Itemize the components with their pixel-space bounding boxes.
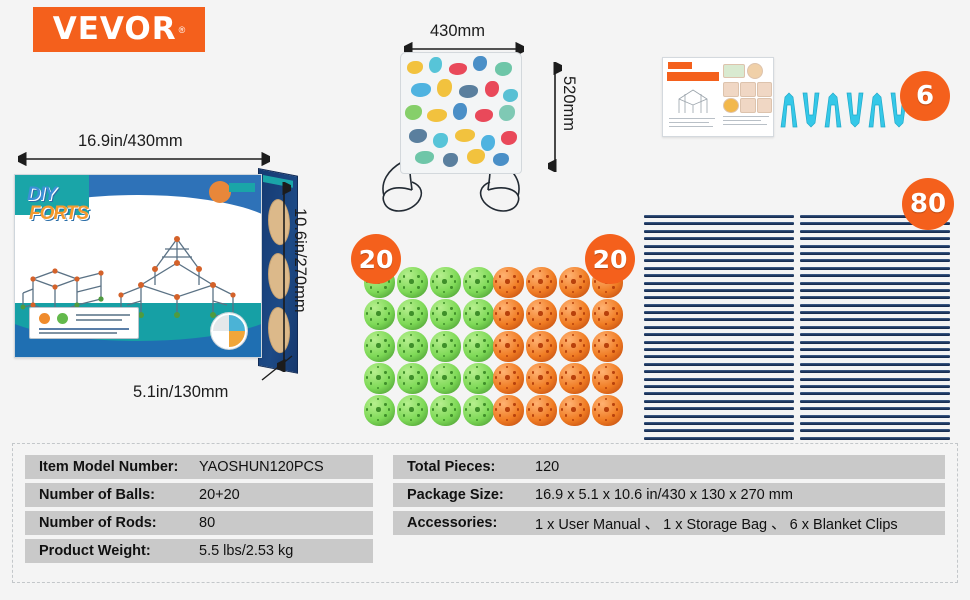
ball-hole [506, 387, 508, 389]
spec-key: Accessories: [393, 515, 535, 531]
ball-hole [370, 318, 372, 320]
ball-hole [403, 414, 405, 416]
box-height-arrow [277, 182, 291, 372]
ball-hole [538, 279, 542, 283]
ball-hole [366, 344, 368, 346]
ball-hole [475, 407, 479, 411]
ball-hole [384, 307, 386, 309]
rod [644, 392, 794, 395]
ball-hole [539, 302, 541, 304]
spec-key: Product Weight: [25, 543, 199, 559]
ball-hole [436, 371, 438, 373]
ball-hole [539, 387, 541, 389]
ball-hole [598, 371, 600, 373]
ball-hole [476, 291, 478, 293]
ball [493, 299, 524, 330]
ball-hole [377, 355, 379, 357]
ball-hole [598, 286, 600, 288]
ball-hole [598, 350, 600, 352]
ball-hole [436, 414, 438, 416]
ball-hole [370, 307, 372, 309]
ball-hole [410, 355, 412, 357]
ball-hole [583, 376, 585, 378]
ball-hole [538, 311, 542, 315]
ball-hole [572, 398, 574, 400]
ball-hole [513, 350, 515, 352]
box-label-line-4 [39, 332, 117, 334]
ball [559, 331, 590, 362]
ball-hole [465, 344, 467, 346]
spec-value: 80 [199, 515, 215, 531]
ball-hole [572, 334, 574, 336]
ball-hole [409, 407, 413, 411]
ball-hole [465, 408, 467, 410]
ball-hole [546, 339, 548, 341]
rod [800, 311, 950, 314]
ball-hole [532, 414, 534, 416]
rod [644, 355, 794, 358]
spec-row: Number of Balls:20+20 [25, 483, 373, 507]
ball-hole [450, 318, 452, 320]
ball-hole [443, 419, 445, 421]
rod [800, 415, 950, 418]
ball-hole [579, 275, 581, 277]
bag-print-blob [433, 133, 448, 148]
ball-hole [450, 286, 452, 288]
bag-print-blob [493, 153, 509, 166]
box-info-label [29, 307, 139, 339]
bag-print-blob [409, 129, 427, 143]
ball-hole [421, 408, 423, 410]
ball-hole [528, 280, 530, 282]
rod [644, 311, 794, 314]
rod [644, 407, 794, 410]
ball-hole [403, 339, 405, 341]
ball-hole [388, 408, 390, 410]
rod [800, 437, 950, 440]
ball-hole [377, 387, 379, 389]
ball-hole [370, 350, 372, 352]
rod [800, 392, 950, 395]
ball-hole [417, 286, 419, 288]
rod [644, 215, 794, 218]
ball-hole [594, 376, 596, 378]
ball-hole [532, 350, 534, 352]
ball-hole [421, 376, 423, 378]
ball [430, 395, 461, 426]
ball-hole [469, 339, 471, 341]
ball-hole [417, 307, 419, 309]
ball-hole [583, 280, 585, 282]
bag-print-blob [429, 57, 442, 73]
vevor-logo: VEVOR® [33, 7, 205, 52]
ball-hole [443, 334, 445, 336]
ball-hole [465, 280, 467, 282]
ball-hole [546, 371, 548, 373]
spec-value: 16.9 x 5.1 x 10.6 in/430 x 130 x 270 mm [535, 487, 793, 503]
ball [364, 395, 395, 426]
ball-hole [532, 275, 534, 277]
ball-hole [483, 275, 485, 277]
ball-hole [450, 307, 452, 309]
ball-hole [579, 307, 581, 309]
ball-hole [370, 403, 372, 405]
ball-hole [370, 382, 372, 384]
ball-hole [506, 323, 508, 325]
box-label-line-1 [76, 314, 130, 316]
rod [644, 348, 794, 351]
box-logo-line2: FORTS [29, 204, 113, 223]
ball-hole [546, 286, 548, 288]
orange-balls-count-badge: 20 [585, 234, 635, 284]
ball-hole [571, 375, 575, 379]
rod [644, 304, 794, 307]
rod [800, 274, 950, 277]
ball-hole [476, 302, 478, 304]
ball-hole [528, 376, 530, 378]
ball-hole [579, 286, 581, 288]
rod [800, 429, 950, 432]
spec-key: Item Model Number: [25, 459, 199, 475]
ball [397, 299, 428, 330]
ball-hole [572, 355, 574, 357]
ball-hole [598, 403, 600, 405]
ball-hole [469, 307, 471, 309]
rod [800, 289, 950, 292]
ball [526, 267, 557, 298]
ball-hole [432, 408, 434, 410]
ball-hole [532, 382, 534, 384]
ball-hole [403, 275, 405, 277]
rod [644, 318, 794, 321]
ball-hole [616, 312, 618, 314]
specifications-table: Item Model Number:YAOSHUN120PCSNumber of… [12, 443, 958, 583]
ball-hole [499, 350, 501, 352]
ball [493, 395, 524, 426]
ball-hole [421, 280, 423, 282]
ball-hole [550, 312, 552, 314]
ball-hole [436, 307, 438, 309]
ball-hole [495, 344, 497, 346]
box-depth-leader [258, 352, 298, 384]
rod [800, 370, 950, 373]
rod [800, 400, 950, 403]
ball-hole [370, 414, 372, 416]
ball-hole [483, 307, 485, 309]
rod [800, 304, 950, 307]
bag-print-blob [427, 109, 447, 122]
ball-hole [583, 312, 585, 314]
ball-hole [442, 375, 446, 379]
ball-hole [505, 407, 509, 411]
ball [559, 267, 590, 298]
ball-hole [476, 323, 478, 325]
ball-hole [604, 311, 608, 315]
ball-hole [499, 371, 501, 373]
ball-hole [506, 270, 508, 272]
bag-print-blob [495, 62, 512, 76]
ball-hole [495, 376, 497, 378]
ball-hole [476, 334, 478, 336]
bag-print-blob [485, 81, 499, 97]
bag-body [400, 52, 522, 174]
rod [644, 415, 794, 418]
ball-hole [513, 371, 515, 373]
bag-print-blob [499, 105, 515, 121]
rod [644, 333, 794, 336]
ball-hole [410, 366, 412, 368]
green-balls-count-badge: 20 [351, 234, 401, 284]
ball-hole [384, 414, 386, 416]
ball-hole [561, 312, 563, 314]
ball-hole [469, 414, 471, 416]
ball-hole [417, 414, 419, 416]
ball-hole [605, 291, 607, 293]
spec-key: Total Pieces: [393, 459, 535, 475]
ball-hole [384, 350, 386, 352]
manual-title-bar [667, 72, 719, 81]
ball-hole [505, 311, 509, 315]
ball-hole [384, 286, 386, 288]
ball-hole [594, 280, 596, 282]
rod [644, 289, 794, 292]
ball-hole [417, 350, 419, 352]
ball-hole [605, 398, 607, 400]
rod [644, 370, 794, 373]
ball [397, 363, 428, 394]
ball-hole [532, 318, 534, 320]
ball [559, 395, 590, 426]
ball-hole [513, 382, 515, 384]
ball-hole [410, 334, 412, 336]
rod [800, 282, 950, 285]
ball [463, 363, 494, 394]
ball-hole [539, 291, 541, 293]
ball-hole [432, 344, 434, 346]
box-product-logo: DIY FORTS [27, 185, 113, 231]
ball-hole [399, 280, 401, 282]
rod [800, 259, 950, 262]
spec-row: Item Model Number:YAOSHUN120PCS [25, 455, 373, 479]
ball-hole [605, 366, 607, 368]
bag-print-blob [481, 135, 495, 151]
ball-hole [561, 344, 563, 346]
ball-hole [384, 403, 386, 405]
ball-hole [616, 408, 618, 410]
ball-hole [506, 366, 508, 368]
ball-hole [506, 398, 508, 400]
ball-hole [538, 407, 542, 411]
ball-hole [572, 291, 574, 293]
ball-hole [539, 323, 541, 325]
ball-hole [476, 270, 478, 272]
ball-hole [476, 366, 478, 368]
rod [800, 296, 950, 299]
ball-hole [384, 371, 386, 373]
ball-hole [487, 312, 489, 314]
box-label-line-2 [76, 319, 122, 321]
ball-hole [432, 376, 434, 378]
bag-print-blob [437, 79, 452, 97]
ball-hole [605, 387, 607, 389]
ball-hole [604, 375, 608, 379]
ball-hole [417, 318, 419, 320]
ball-hole [421, 344, 423, 346]
ball-hole [487, 408, 489, 410]
rod [800, 245, 950, 248]
rod [644, 296, 794, 299]
ball-hole [443, 323, 445, 325]
ball-hole [450, 382, 452, 384]
ball-hole [388, 344, 390, 346]
ball-hole [469, 403, 471, 405]
ball [430, 299, 461, 330]
ball-hole [506, 355, 508, 357]
ball-hole [594, 408, 596, 410]
ball-hole [443, 270, 445, 272]
bag-print-blob [415, 151, 434, 164]
ball-hole [579, 382, 581, 384]
box-width-label: 16.9in/430mm [78, 132, 183, 151]
rod [644, 422, 794, 425]
rod [800, 407, 950, 410]
ball-hole [475, 343, 479, 347]
ball-hole [469, 286, 471, 288]
ball-hole [546, 382, 548, 384]
bag-print-blob [459, 85, 478, 98]
ball-hole [487, 280, 489, 282]
green-balls-grid [364, 267, 495, 426]
ball-hole [499, 382, 501, 384]
ball-hole [517, 312, 519, 314]
ball-hole [598, 307, 600, 309]
ball-hole [565, 350, 567, 352]
ball-hole [604, 343, 608, 347]
ball-hole [539, 355, 541, 357]
ball-hole [432, 312, 434, 314]
ball-hole [604, 407, 608, 411]
bag-print-blob [407, 61, 423, 74]
ball-hole [579, 339, 581, 341]
box-depth-label: 5.1in/130mm [133, 383, 228, 402]
box-label-line-3 [39, 328, 129, 330]
ball-hole [561, 376, 563, 378]
ball-hole [594, 312, 596, 314]
ball-hole [442, 279, 446, 283]
rod [644, 259, 794, 262]
ball-hole [532, 403, 534, 405]
ball-hole [598, 414, 600, 416]
ball-hole [565, 414, 567, 416]
ball-hole [539, 334, 541, 336]
box-brand-strip [229, 183, 255, 192]
rod [644, 282, 794, 285]
ball-hole [513, 275, 515, 277]
ball-hole [495, 280, 497, 282]
ball-hole [399, 376, 401, 378]
rod [644, 267, 794, 270]
ball-hole [499, 403, 501, 405]
ball [463, 331, 494, 362]
ball-hole [454, 280, 456, 282]
rod [800, 318, 950, 321]
rod [800, 363, 950, 366]
ball-hole [546, 307, 548, 309]
ball [559, 299, 590, 330]
ball-hole [403, 403, 405, 405]
ball [463, 395, 494, 426]
ball-hole [513, 339, 515, 341]
ball-hole [384, 339, 386, 341]
ball-hole [487, 344, 489, 346]
ball-hole [403, 318, 405, 320]
ball-hole [417, 339, 419, 341]
ball-hole [546, 414, 548, 416]
ball-hole [399, 344, 401, 346]
spec-value: 5.5 lbs/2.53 kg [199, 543, 293, 559]
infographic-canvas: VEVOR® 16.9in/430mm DIY FORTS [0, 0, 970, 600]
ball-hole [538, 343, 542, 347]
rod [644, 437, 794, 440]
ball-hole [450, 403, 452, 405]
ball-hole [513, 414, 515, 416]
ball [592, 395, 623, 426]
ball-hole [550, 280, 552, 282]
ball-hole [565, 286, 567, 288]
ball-hole [475, 311, 479, 315]
ball [493, 331, 524, 362]
ball-hole [605, 323, 607, 325]
ball-hole [370, 339, 372, 341]
ball-hole [450, 339, 452, 341]
manual-vevor-logo [668, 62, 692, 69]
ball [526, 395, 557, 426]
ball-hole [605, 419, 607, 421]
ball-hole [443, 398, 445, 400]
ball-hole [539, 419, 541, 421]
ball-hole [517, 408, 519, 410]
ball-hole [366, 376, 368, 378]
ball-hole [495, 408, 497, 410]
bag-print-blob [503, 89, 518, 102]
ball-hole [403, 350, 405, 352]
ball-hole [421, 312, 423, 314]
ball-hole [579, 318, 581, 320]
ball-hole [499, 414, 501, 416]
ball [493, 267, 524, 298]
ball-hole [532, 286, 534, 288]
ball-hole [410, 270, 412, 272]
ball-hole [565, 371, 567, 373]
registered-mark: ® [179, 25, 186, 35]
ball-hole [436, 286, 438, 288]
ball-hole [612, 371, 614, 373]
brand-name: VEVOR [53, 14, 177, 45]
ball-hole [572, 270, 574, 272]
ball-hole [565, 275, 567, 277]
ball-hole [410, 302, 412, 304]
bag-print-blob [453, 103, 467, 120]
rod [644, 363, 794, 366]
ball-hole [572, 387, 574, 389]
ball-hole [579, 403, 581, 405]
ball-hole [476, 387, 478, 389]
bag-print-blob [501, 131, 517, 145]
ball-hole [417, 382, 419, 384]
rod [800, 252, 950, 255]
rod [644, 341, 794, 344]
box-seal-badge [209, 181, 231, 203]
